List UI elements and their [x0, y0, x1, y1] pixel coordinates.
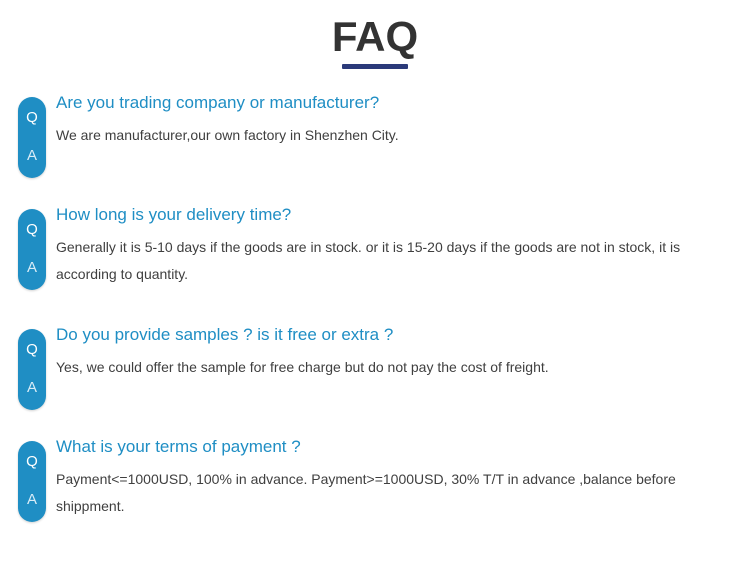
- faq-answer: Yes, we could offer the sample for free …: [56, 354, 716, 381]
- question-marker-icon: Q: [26, 109, 38, 127]
- faq-list: Q A Are you trading company or manufactu…: [0, 90, 750, 554]
- faq-item: Q A What is your terms of payment ? Paym…: [0, 434, 750, 520]
- faq-answer: Generally it is 5-10 days if the goods a…: [56, 234, 716, 288]
- faq-item: Q A Are you trading company or manufactu…: [0, 90, 750, 168]
- faq-question: Are you trading company or manufacturer?: [56, 90, 716, 115]
- question-marker-icon: Q: [26, 221, 38, 239]
- qa-badge: Q A: [18, 441, 46, 522]
- qa-badge: Q A: [18, 209, 46, 290]
- page-header: FAQ: [0, 14, 750, 69]
- answer-marker-icon: A: [27, 147, 37, 165]
- faq-item: Q A Do you provide samples ? is it free …: [0, 322, 750, 400]
- faq-answer: We are manufacturer,our own factory in S…: [56, 122, 716, 149]
- page-title: FAQ: [0, 14, 750, 60]
- faq-item: Q A How long is your delivery time? Gene…: [0, 202, 750, 288]
- answer-marker-icon: A: [27, 491, 37, 509]
- question-marker-icon: Q: [26, 453, 38, 471]
- answer-marker-icon: A: [27, 379, 37, 397]
- faq-page: FAQ Q A Are you trading company or manuf…: [0, 0, 750, 578]
- faq-answer: Payment<=1000USD, 100% in advance. Payme…: [56, 466, 716, 520]
- faq-question: How long is your delivery time?: [56, 202, 716, 227]
- question-marker-icon: Q: [26, 341, 38, 359]
- qa-badge: Q A: [18, 97, 46, 178]
- faq-question: Do you provide samples ? is it free or e…: [56, 322, 716, 347]
- faq-question: What is your terms of payment ?: [56, 434, 716, 459]
- qa-badge: Q A: [18, 329, 46, 410]
- answer-marker-icon: A: [27, 259, 37, 277]
- title-underline-rule: [342, 64, 408, 69]
